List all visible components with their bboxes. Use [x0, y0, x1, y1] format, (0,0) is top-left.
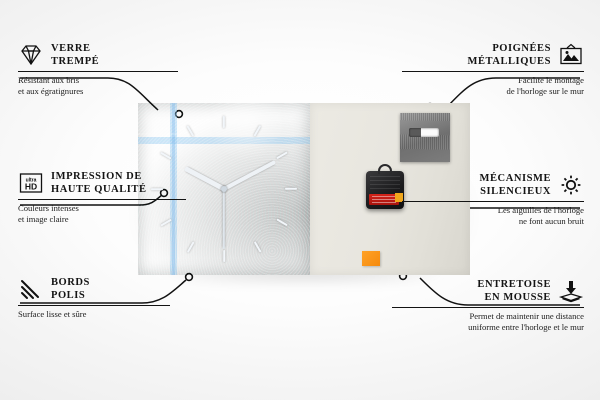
callout-desc-line1: Permet de maintenir une distance: [384, 311, 584, 322]
face-highlight: [207, 103, 286, 161]
callout-rule: [402, 71, 584, 72]
clock-tick: [223, 250, 225, 262]
callout-title-line2: POLIS: [51, 289, 90, 302]
svg-text:HD: HD: [25, 182, 37, 192]
callout-desc-line1: Couleurs intenses: [18, 203, 193, 214]
foam-spacer: [362, 251, 380, 266]
callout-title-line1: POIGNÉES: [468, 42, 551, 55]
clock-hub: [221, 186, 227, 192]
callout-header: BORDS POLIS: [18, 276, 178, 302]
callout-title-line2: TREMPÉ: [51, 55, 99, 68]
callout-title-line1: MÉCANISME: [480, 172, 551, 185]
callout-desc-line2: ne font aucun bruit: [394, 216, 584, 227]
callout-desc-line1: Surface lisse et sûre: [18, 309, 178, 320]
callout-mecanisme-silencieux: MÉCANISME SILENCIEUX Les aiguilles de l'…: [394, 172, 584, 227]
callout-title-line1: ENTRETOISE: [477, 278, 551, 291]
clock-hand-second: [223, 189, 225, 249]
callout-poignees-metalliques: POIGNÉES MÉTALLIQUES Facilite le montage…: [394, 42, 584, 97]
callout-desc-line1: Résistant aux bris: [18, 75, 188, 86]
metal-hanger-plate: [400, 113, 450, 162]
callout-desc-line1: Les aiguilles de l'horloge: [394, 205, 584, 216]
infographic-stage: VERRE TREMPÉ Résistant aux bris et aux é…: [0, 0, 600, 400]
callout-rule: [18, 305, 170, 306]
battery-label: [372, 196, 396, 203]
callout-rule: [392, 307, 584, 308]
callout-rule: [402, 201, 584, 202]
callout-desc-line2: uniforme entre l'horloge et le mur: [384, 322, 584, 333]
callout-header: MÉCANISME SILENCIEUX: [394, 172, 584, 198]
callout-header: VERRE TREMPÉ: [18, 42, 188, 68]
callout-title-line1: IMPRESSION DE: [51, 170, 147, 183]
callout-verre-trempe: VERRE TREMPÉ Résistant aux bris et aux é…: [18, 42, 188, 97]
callout-desc-line1: Facilite le montage: [394, 75, 584, 86]
callout-bords-polis: BORDS POLIS Surface lisse et sûre: [18, 276, 178, 320]
diamond-icon: [18, 43, 44, 67]
foam-spacer-icon: [558, 279, 584, 303]
callout-title-line1: BORDS: [51, 276, 90, 289]
picture-hanger-icon: [558, 43, 584, 67]
callout-title-line2: MÉTALLIQUES: [468, 55, 551, 68]
callout-title-line2: SILENCIEUX: [480, 185, 551, 198]
polished-edges-icon: [18, 277, 44, 301]
callout-title-line2: HAUTE QUALITÉ: [51, 183, 147, 196]
callout-header: ENTRETOISE EN MOUSSE: [384, 278, 584, 304]
ultra-hd-icon: ultra HD: [18, 171, 44, 195]
keyhole-slot: [409, 128, 439, 137]
callout-desc-line2: et image claire: [18, 214, 193, 225]
mechanism-loop: [378, 164, 392, 174]
callout-header: ultra HD IMPRESSION DE HAUTE QUALITÉ: [18, 170, 193, 196]
gear-icon: [558, 173, 584, 197]
callout-rule: [18, 71, 178, 72]
callout-title-line1: VERRE: [51, 42, 99, 55]
callout-entretoise-en-mousse: ENTRETOISE EN MOUSSE Permet de maintenir…: [384, 278, 584, 333]
callout-impression-haute-qualite: ultra HD IMPRESSION DE HAUTE QUALITÉ Cou…: [18, 170, 193, 225]
callout-title-line2: EN MOUSSE: [477, 291, 551, 304]
callout-header: POIGNÉES MÉTALLIQUES: [394, 42, 584, 68]
callout-desc-line2: de l'horloge sur le mur: [394, 86, 584, 97]
callout-rule: [18, 199, 186, 200]
callout-desc-line2: et aux égratignures: [18, 86, 188, 97]
